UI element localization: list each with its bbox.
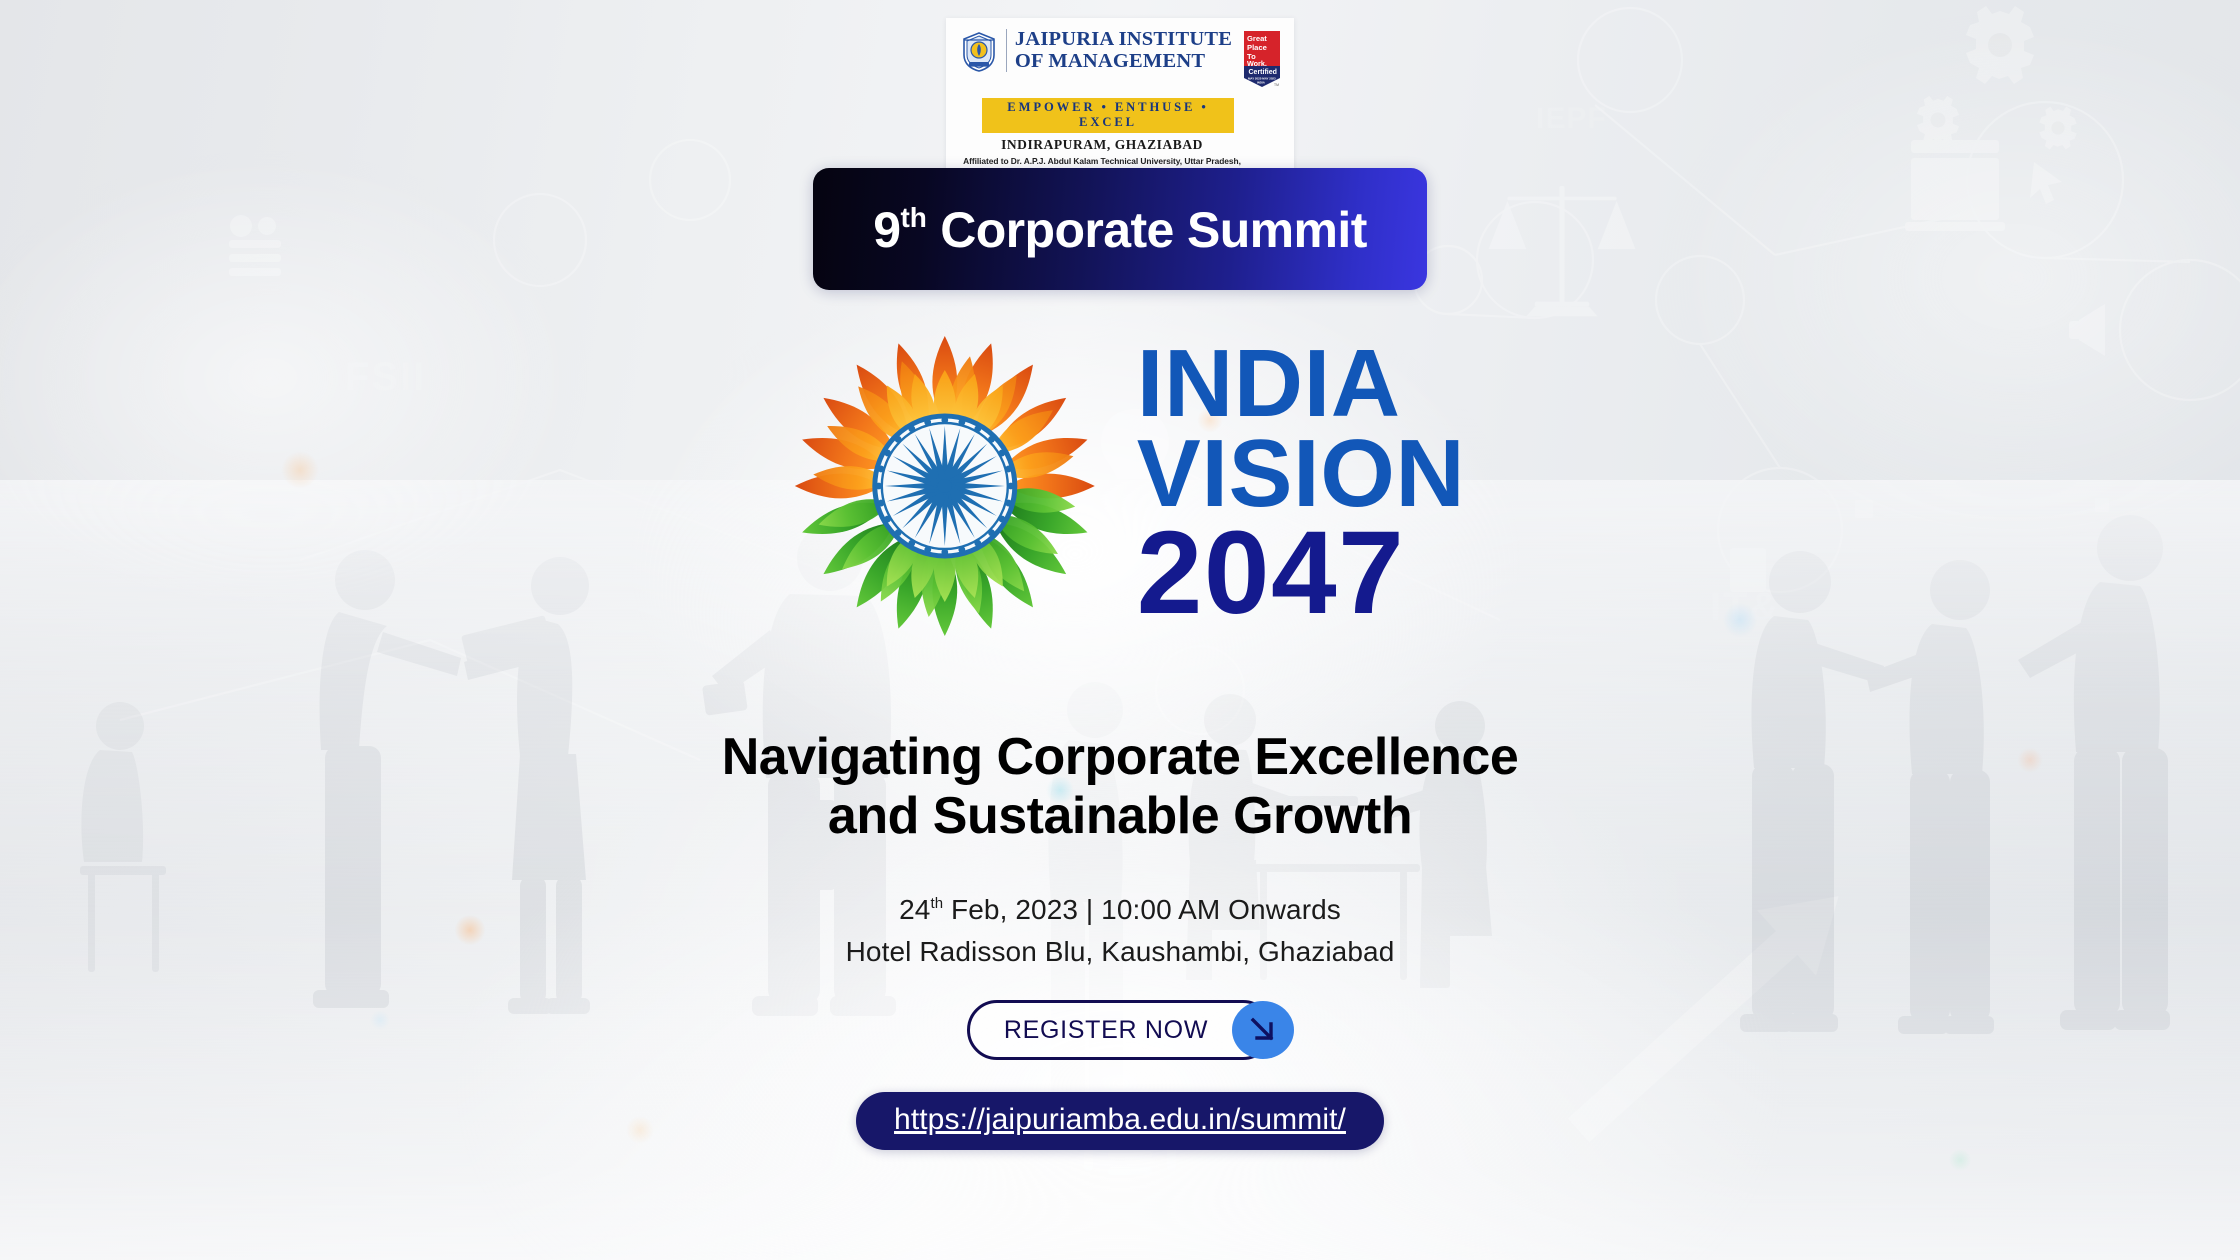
register-now-label: REGISTER NOW [1004,1016,1208,1045]
svg-text:INDIA: INDIA [1257,81,1266,85]
arrow-down-right-icon[interactable] [1232,1001,1294,1059]
event-details: 24th Feb, 2023 | 10:00 AM Onwards Hotel … [0,892,2240,969]
institute-name: JAIPURIA INSTITUTE OF MANAGEMENT [1006,29,1232,72]
svg-text:TM: TM [1274,83,1279,87]
registration-url-pill[interactable]: https://jaipuriamba.edu.in/summit/ [856,1092,1384,1150]
wordmark-year: 2047 [1137,520,1465,626]
jaipuria-crest-icon [959,31,999,78]
event-day: 24 [899,894,930,925]
svg-text:Work.: Work. [1247,59,1267,68]
tagline-line2: and Sustainable Growth [0,787,2240,846]
event-date-time: 24th Feb, 2023 | 10:00 AM Onwards [0,892,2240,927]
event-theme-tagline: Navigating Corporate Excellence and Sust… [0,728,2240,846]
svg-text:Certified: Certified [1249,69,1277,76]
event-poster: FSII IT& IEPF [0,0,2240,1260]
institute-city: INDIRAPURAM, GHAZIABAD [956,137,1284,153]
event-date-rest: Feb, 2023 | 10:00 AM Onwards [943,894,1341,925]
hero-block: INDIA VISION 2047 [775,316,1465,656]
tagline-line1: Navigating Corporate Excellence [0,728,2240,787]
wordmark-vision: VISION [1137,430,1465,518]
institute-name-line2: OF MANAGEMENT [1015,51,1232,73]
edition-number: 9 [873,202,900,258]
wordmark-india: INDIA [1137,340,1465,428]
edition-ordinal: th [900,202,926,233]
event-venue: Hotel Radisson Blu, Kaushambi, Ghaziabad [0,934,2240,969]
institute-name-line1: JAIPURIA INSTITUTE [1015,29,1232,51]
institute-tagline: EMPOWER • ENTHUSE • EXCEL [982,98,1234,133]
summit-edition-text: 9th Corporate Summit [873,204,1367,255]
tricolor-lotus-ashoka-chakra-emblem [775,316,1115,656]
india-vision-wordmark: INDIA VISION 2047 [1137,340,1465,633]
summit-edition-ribbon: 9th Corporate Summit [813,168,1427,290]
svg-text:Great: Great [1247,34,1267,43]
ashoka-chakra-icon [875,416,1015,556]
register-now-button[interactable]: REGISTER NOW [967,1000,1273,1060]
institute-logo-card: JAIPURIA INSTITUTE OF MANAGEMENT Great P… [946,18,1294,184]
event-day-ordinal: th [930,895,943,912]
summit-title: Corporate Summit [940,202,1367,258]
svg-text:Place: Place [1247,43,1267,52]
great-place-to-work-badge: Great Place To Work. Certified MAY 2022-… [1243,30,1281,93]
